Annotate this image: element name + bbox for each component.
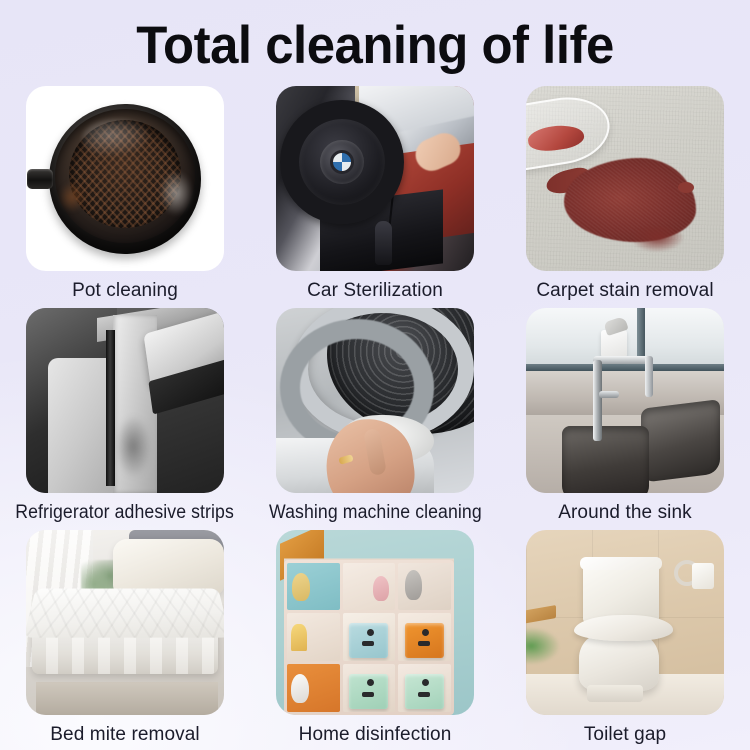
caption-washing-machine: Washing machine cleaning bbox=[269, 502, 482, 524]
caption-carpet-stain-removal: Carpet stain removal bbox=[536, 280, 713, 302]
washing-machine-image bbox=[276, 308, 474, 493]
refrigerator-strips-image bbox=[26, 308, 224, 493]
pot-cleaning-image bbox=[26, 86, 224, 271]
caption-pot-cleaning: Pot cleaning bbox=[72, 280, 178, 302]
car-sterilization-image bbox=[276, 86, 474, 271]
faucet-icon bbox=[593, 360, 602, 441]
grid-item-carpet-stain-removal[interactable]: Carpet stain removal bbox=[500, 86, 750, 308]
carpet-stain-removal-image bbox=[526, 86, 724, 271]
caption-refrigerator-strips: Refrigerator adhesive strips bbox=[16, 502, 235, 524]
grid-item-around-the-sink[interactable]: Around the sink bbox=[500, 308, 750, 530]
caption-home-disinfection: Home disinfection bbox=[299, 724, 452, 746]
grid-item-home-disinfection[interactable]: Home disinfection bbox=[250, 530, 500, 750]
caption-toilet-gap: Toilet gap bbox=[584, 724, 666, 746]
toilet-gap-image bbox=[526, 530, 724, 715]
grid-item-car-sterilization[interactable]: Car Sterilization bbox=[250, 86, 500, 308]
grid-item-refrigerator-strips[interactable]: Refrigerator adhesive strips bbox=[0, 308, 250, 530]
pan-handle-icon bbox=[27, 169, 53, 189]
caption-bed-mite-removal: Bed mite removal bbox=[50, 724, 199, 746]
grid-item-bed-mite-removal[interactable]: Bed mite removal bbox=[0, 530, 250, 750]
caption-around-the-sink: Around the sink bbox=[558, 502, 692, 524]
promo-poster: Total cleaning of life Pot cleaning bbox=[0, 0, 750, 750]
home-disinfection-image bbox=[276, 530, 474, 715]
grid-item-washing-machine[interactable]: Washing machine cleaning bbox=[250, 308, 500, 530]
caption-car-sterilization: Car Sterilization bbox=[307, 280, 443, 302]
car-brand-logo-icon bbox=[330, 150, 354, 174]
feature-grid: Pot cleaning Car Sterilization bbox=[0, 86, 750, 750]
page-title: Total cleaning of life bbox=[15, 14, 735, 78]
grid-item-toilet-gap[interactable]: Toilet gap bbox=[500, 530, 750, 750]
bed-mite-removal-image bbox=[26, 530, 224, 715]
around-the-sink-image bbox=[526, 308, 724, 493]
grid-item-pot-cleaning[interactable]: Pot cleaning bbox=[0, 86, 250, 308]
